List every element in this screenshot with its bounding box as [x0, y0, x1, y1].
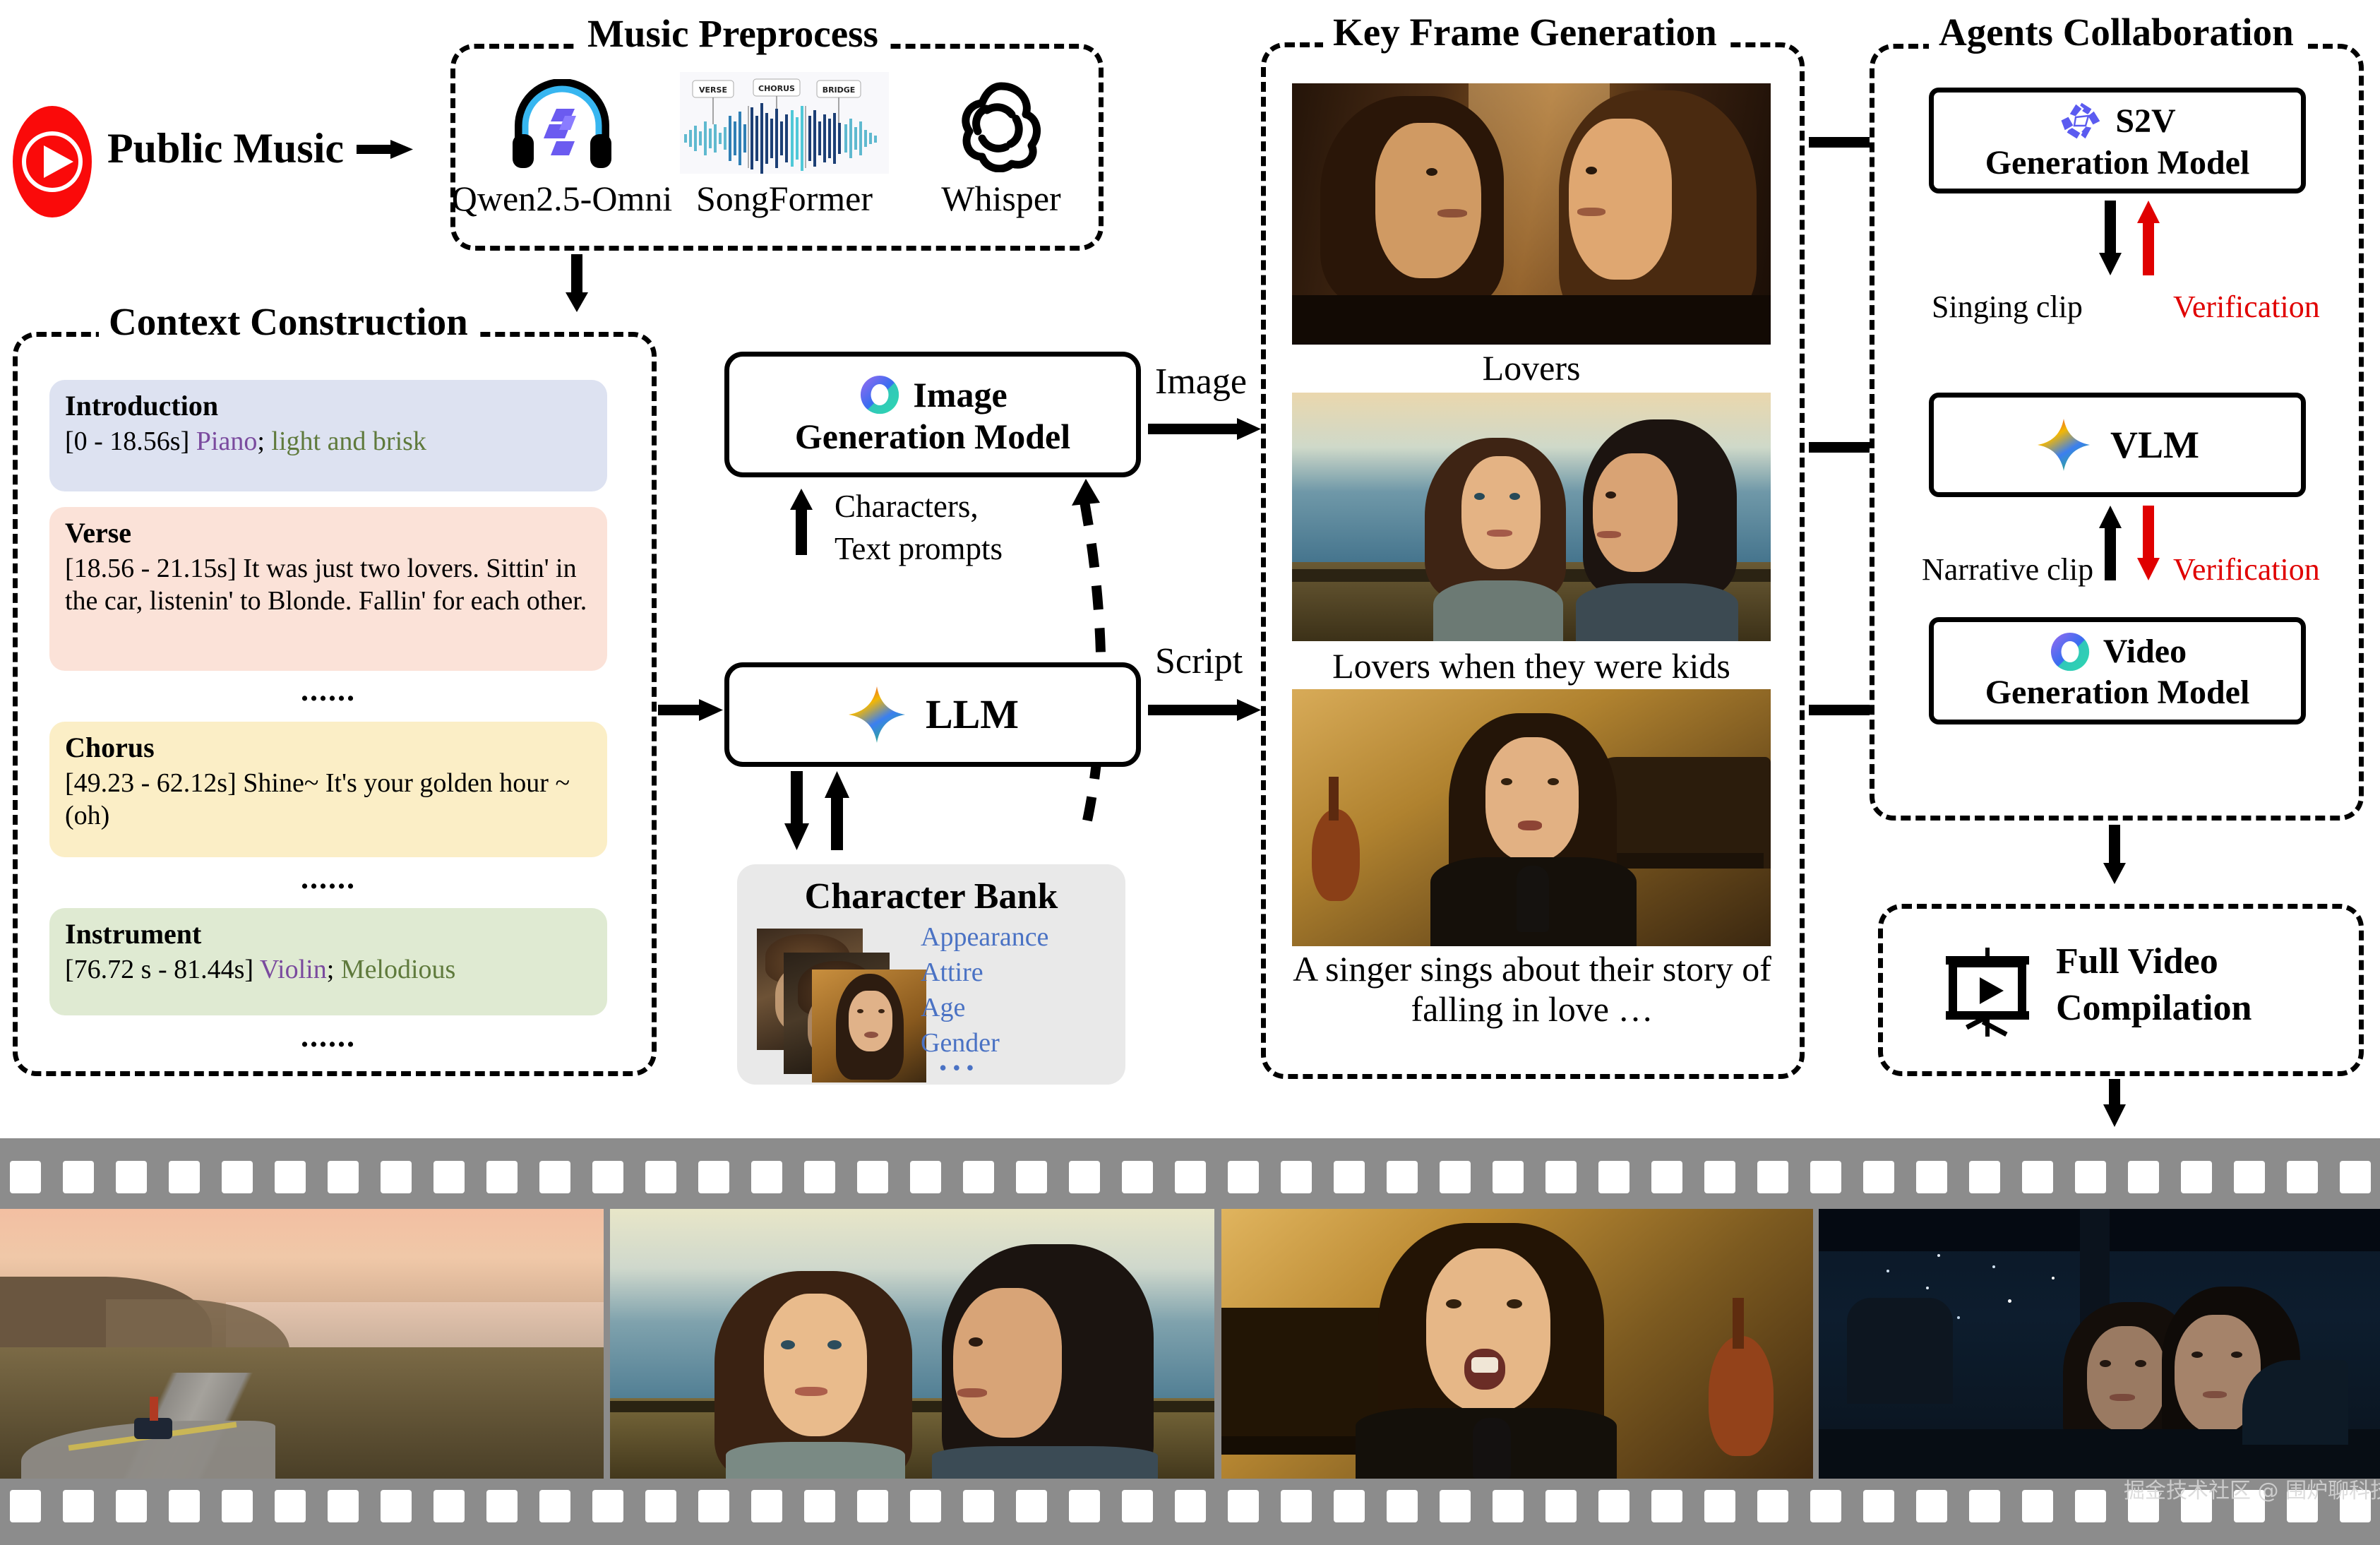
context-ellipsis: ......: [49, 672, 607, 708]
filmstrip-watermark: 掘金技术社区 @ 围炉聊科技: [2124, 1473, 2380, 1504]
verification-label-1: Verification: [2173, 290, 2320, 324]
image-edge-label: Image: [1155, 362, 1247, 402]
context-block-tag: Piano: [196, 426, 258, 456]
context-block-introduction: Introduction [0 - 18.56s] Piano; light a…: [49, 380, 607, 491]
image-generation-model-line1: Image: [913, 375, 1007, 414]
waveform-segments-icon: VERSE CHORUS BRIDGE: [680, 72, 889, 174]
context-block-time: [76.72 s - 81.44s]: [65, 955, 253, 984]
context-block-mood: light and brisk: [271, 426, 426, 456]
music-preprocess-title: Music Preprocess: [578, 14, 888, 53]
context-construction-title: Context Construction: [99, 302, 478, 341]
character-photo-stack: [757, 929, 926, 1082]
seedream-ring-icon: [2048, 630, 2092, 674]
keyframe-image-lovers: [1292, 83, 1771, 345]
arrow-image-to-keyframe: [1148, 417, 1261, 441]
context-block-tag: Violin: [260, 955, 327, 984]
s2v-line2: Generation Model: [1985, 144, 2250, 182]
filmstrip-perforations-top: [10, 1161, 2371, 1193]
context-block-verse: Verse [18.56 - 21.15s] It was just two l…: [49, 507, 607, 671]
filmstrip-frame-singer: [1221, 1209, 1813, 1479]
keyframe-caption-singer: A singer sings about their story of fall…: [1271, 949, 1793, 1030]
arrows-llm-character-bank: [779, 771, 878, 850]
gemini-spark-icon: [847, 684, 907, 745]
image-generation-model-box[interactable]: Image Generation Model: [724, 352, 1141, 477]
key-frame-generation-title: Key Frame Generation: [1323, 13, 1727, 52]
arrow-verification-up-1: [2136, 201, 2160, 275]
arrow-full-video-to-filmstrip: [2103, 1079, 2127, 1127]
full-video-line1: Full Video: [2056, 941, 2218, 982]
arrow-agents-to-full-video: [2103, 825, 2127, 884]
arrow-llm-to-image-model: [789, 489, 813, 555]
keyframe-caption-kids: Lovers when they were kids: [1278, 647, 1785, 686]
context-block-label: Verse: [65, 517, 592, 549]
llm-label: LLM: [926, 692, 1019, 738]
arrow-verification-down-2: [2136, 506, 2160, 580]
arrow-context-to-llm: [658, 698, 723, 722]
narrative-clip-label: Narrative clip: [1922, 552, 2093, 587]
whisper-model-label: Whisper: [931, 178, 1072, 219]
context-block-time: [49.23 - 62.12s]: [65, 768, 237, 798]
context-ellipsis: ......: [49, 1018, 607, 1054]
context-block-chorus: Chorus [49.23 - 62.12s] Shine~ It's your…: [49, 722, 607, 857]
context-block-label: Chorus: [65, 732, 592, 764]
svg-text:BRIDGE: BRIDGE: [823, 85, 856, 95]
arrow-preprocess-to-context: [565, 254, 589, 312]
character-bank-attr-appearance: Appearance: [921, 924, 1048, 951]
s2v-generation-model-box[interactable]: S2V Generation Model: [1929, 88, 2306, 193]
qwen-model-label: Qwen2.5-Omni: [450, 178, 674, 219]
vlm-label: VLM: [2110, 424, 2199, 466]
arrow-music-to-preprocess: [357, 138, 413, 160]
filmstrip-perforations-bottom: [10, 1490, 2371, 1522]
llm-box[interactable]: LLM: [724, 662, 1141, 767]
youtube-music-play-icon: [13, 106, 92, 217]
gemini-spark-icon: [2035, 417, 2092, 473]
script-edge-label: Script: [1155, 641, 1243, 682]
svg-text:CHORUS: CHORUS: [758, 84, 795, 93]
public-music-text: Public Music: [107, 124, 344, 173]
svg-text:VERSE: VERSE: [699, 85, 727, 95]
character-bank-title: Character Bank: [737, 876, 1125, 917]
context-block-instrument: Instrument [76.72 s - 81.44s] Violin; Me…: [49, 908, 607, 1015]
context-block-label: Instrument: [65, 918, 592, 950]
image-generation-model-line2: Generation Model: [795, 417, 1070, 456]
dashed-feedback-path: [1017, 477, 1158, 823]
video-model-line2: Generation Model: [1985, 674, 2250, 712]
keyframe-image-singer: [1292, 689, 1771, 946]
vlm-box[interactable]: VLM: [1929, 393, 2306, 497]
keyframe-caption-lovers: Lovers: [1292, 349, 1771, 388]
context-ellipsis: ......: [49, 860, 607, 896]
songformer-model-label: SongFormer: [680, 178, 889, 219]
keyframe-image-kids: [1292, 393, 1771, 641]
verification-label-2: Verification: [2173, 552, 2320, 587]
seedream-ring-icon: [858, 373, 902, 417]
full-video-line2: Compilation: [2056, 987, 2252, 1029]
character-bank-attr-attire: Attire: [921, 959, 983, 986]
filmstrip-frame-night-car: [1819, 1209, 2380, 1479]
s2v-line1: S2V: [2115, 102, 2175, 141]
openai-knot-icon: [955, 76, 1047, 172]
character-bank-attr-gender: Gender: [921, 1030, 1000, 1057]
context-block-mood: Melodious: [341, 955, 456, 984]
filmstrip-frame-coastal-road: [0, 1209, 604, 1479]
video-generation-model-box[interactable]: Video Generation Model: [1929, 617, 2306, 724]
arrow-s2v-down: [2098, 201, 2122, 275]
agents-collaboration-title: Agents Collaboration: [1929, 13, 2304, 52]
context-block-time: [0 - 18.56s]: [65, 426, 189, 456]
singing-clip-label: Singing clip: [1932, 290, 2083, 324]
arrow-script-to-keyframe: [1148, 698, 1261, 722]
video-model-line1: Video: [2103, 633, 2187, 671]
prompt-edge-label-line1: Characters,: [835, 489, 979, 524]
presentation-play-icon: [1942, 946, 2033, 1038]
character-bank-more-dots: • • •: [939, 1056, 974, 1080]
character-bank-attr-age: Age: [921, 994, 965, 1022]
qwen-headphones-icon: [507, 79, 617, 174]
arrow-video-model-up: [2098, 506, 2122, 580]
context-block-time: [18.56 - 21.15s]: [65, 554, 237, 583]
context-block-label: Introduction: [65, 390, 592, 422]
filmstrip-frame-kids: [610, 1209, 1214, 1479]
prompt-edge-label-line2: Text prompts: [835, 531, 1003, 566]
s2v-logo-icon: [2059, 99, 2104, 144]
